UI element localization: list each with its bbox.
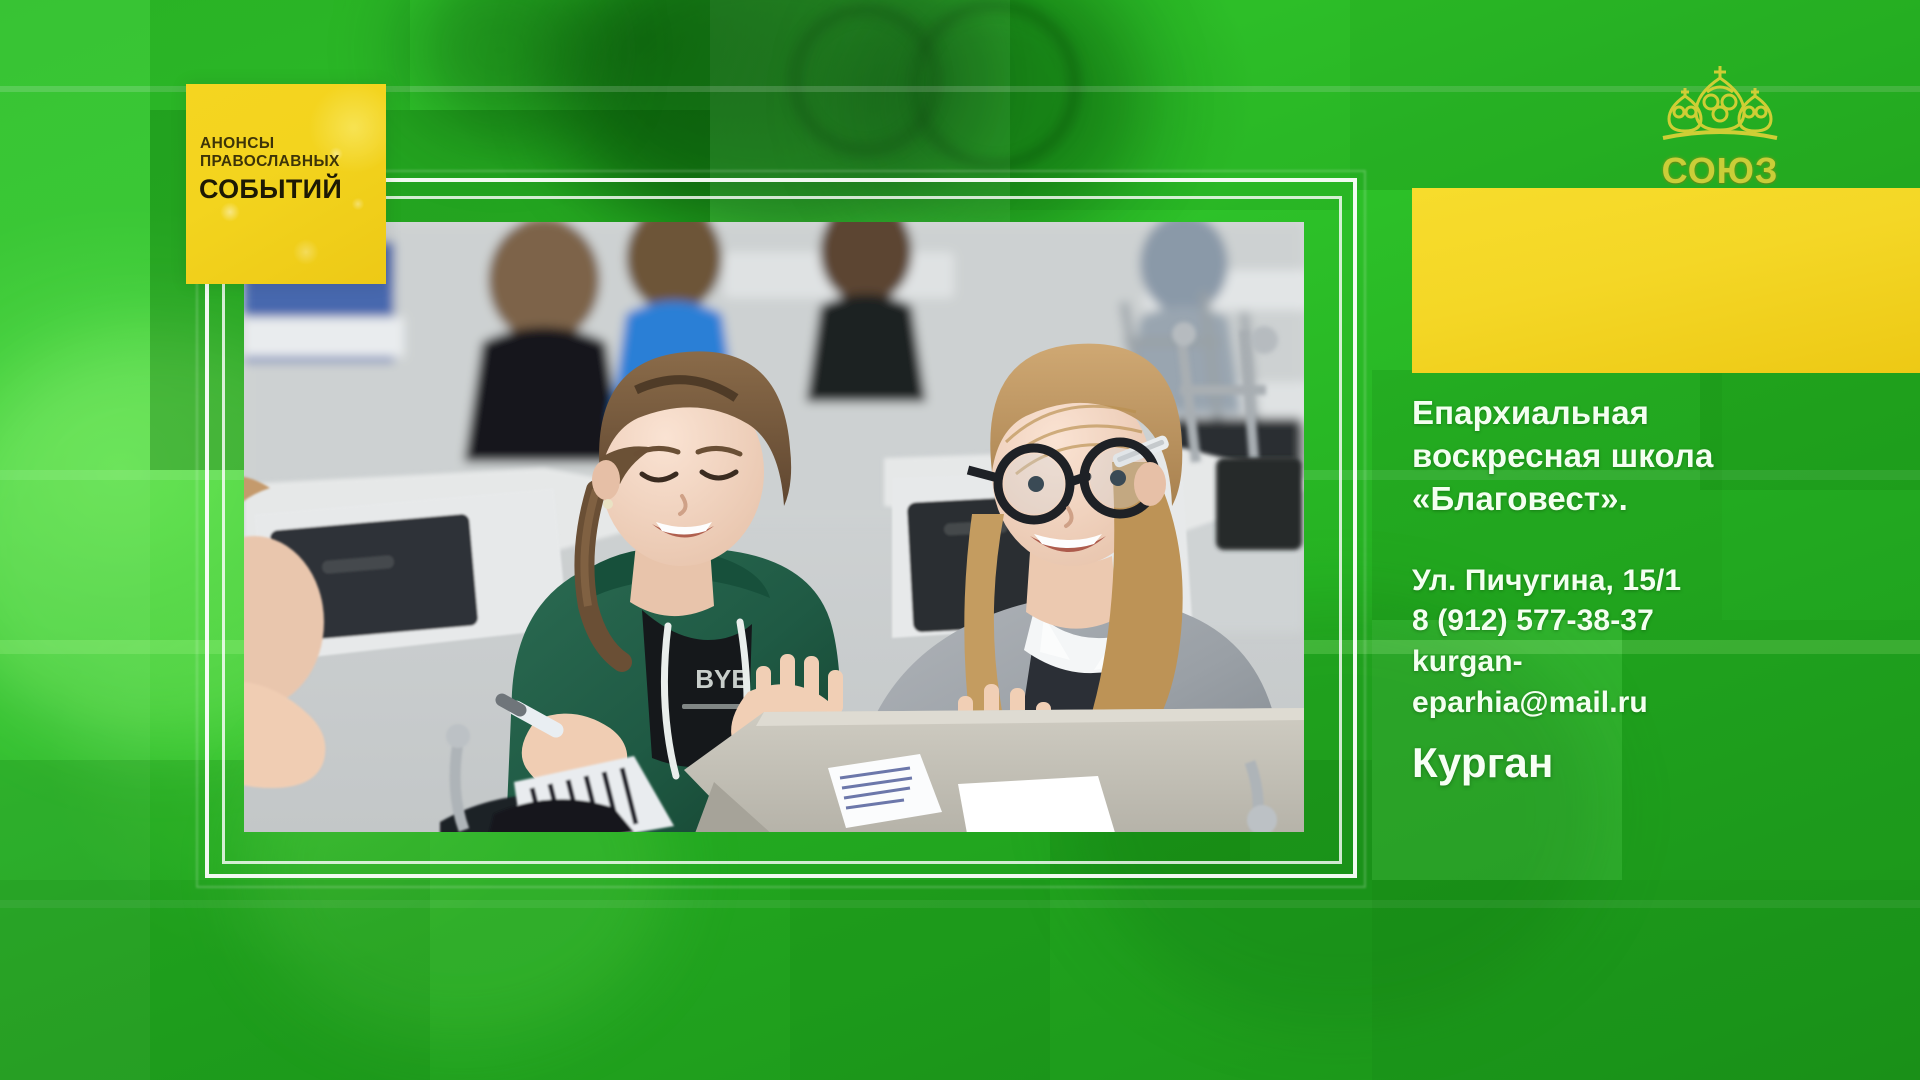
background-tile <box>430 880 790 1080</box>
event-title-line-3: «Благовест». <box>1412 478 1920 521</box>
announcement-photo: BYE <box>244 222 1304 832</box>
email-line-1: kurgan- <box>1412 642 1920 683</box>
yellow-accent-block <box>1412 188 1920 373</box>
background-tile <box>0 880 430 1080</box>
event-title-line-1: Епархиальная <box>1412 392 1920 435</box>
info-text-block: Епархиальная воскресная школа «Благовест… <box>1412 392 1920 786</box>
event-title: Епархиальная воскресная школа «Благовест… <box>1412 392 1920 521</box>
contact-details: Ул. Пичугина, 15/1 8 (912) 577-38-37 kur… <box>1412 561 1920 724</box>
badge-line-3: событий <box>186 175 386 203</box>
channel-logo-text: СОЮЗ <box>1645 150 1795 192</box>
event-title-line-2: воскресная школа <box>1412 435 1920 478</box>
svg-text:BYE: BYE <box>695 664 748 694</box>
announcement-badge: Анонсы православных событий <box>186 84 386 284</box>
badge-line-2: православных <box>186 153 386 171</box>
spacer <box>1412 521 1920 561</box>
email-line-2: eparhia@mail.ru <box>1412 683 1920 724</box>
orthodox-church-domes-icon <box>1645 62 1795 162</box>
city-label: Курган <box>1412 740 1920 786</box>
address-line: Ул. Пичугина, 15/1 <box>1412 561 1920 602</box>
channel-logo: СОЮЗ <box>1645 62 1795 192</box>
background-tile <box>790 880 1050 1080</box>
badge-line-1: Анонсы <box>186 135 386 153</box>
phone-line: 8 (912) 577-38-37 <box>1412 601 1920 642</box>
broadcast-lower-third-graphic: BYE <box>0 0 1920 1080</box>
background-tile <box>1050 880 1372 1080</box>
